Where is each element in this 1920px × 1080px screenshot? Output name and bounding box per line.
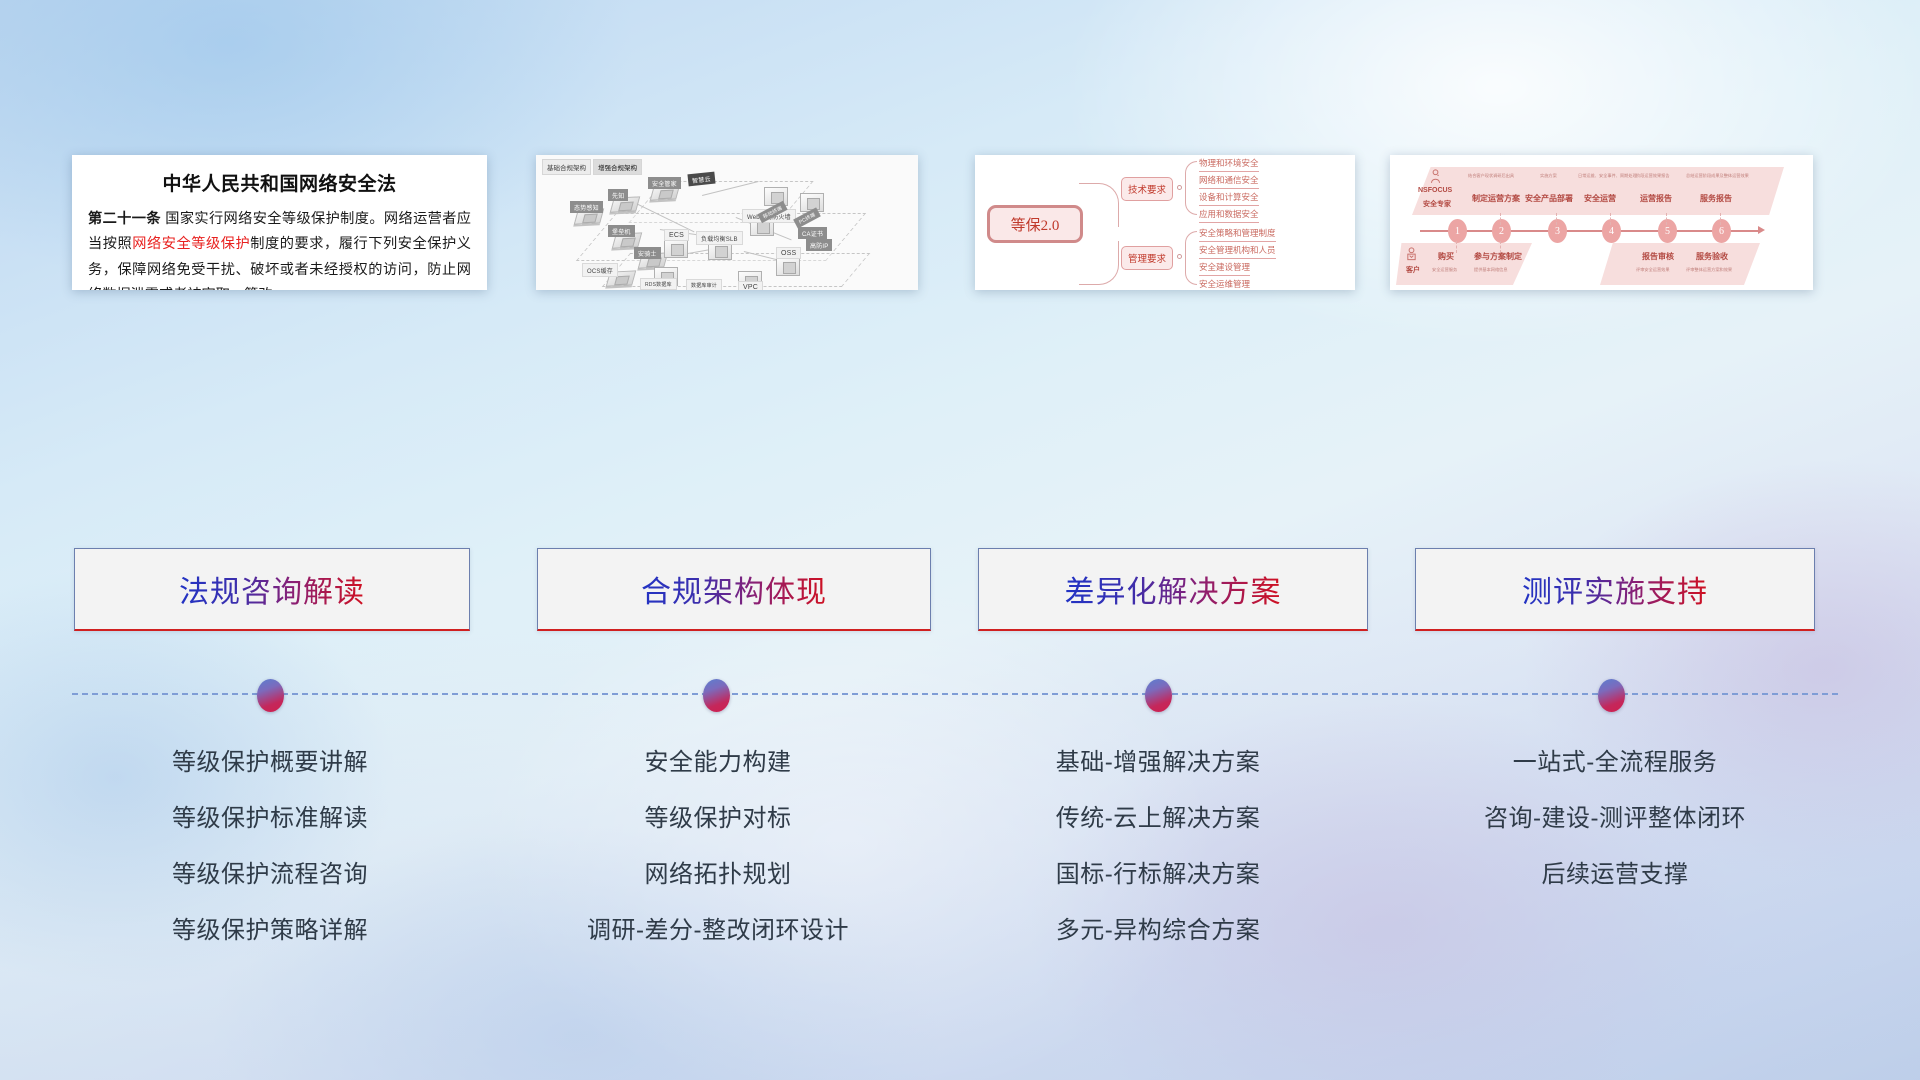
provider-person-icon [1430, 169, 1441, 184]
architecture-tab-basic[interactable]: 基础合规架构 [542, 159, 591, 175]
mindmap-dot-technical [1177, 185, 1182, 190]
list-item: 后续运营支撑 [1400, 852, 1830, 908]
feature-list-1: 等级保护概要讲解 等级保护标准解读 等级保护流程咨询 等级保护策略详解 [72, 740, 468, 964]
bottom-step-title-6: 服务验收 [1696, 251, 1728, 262]
feature-list-4: 一站式-全流程服务 咨询-建设-测评整体闭环 后续运营支撑 [1400, 740, 1830, 908]
node-label-baoleiji: 堡垒机 [608, 225, 635, 237]
provider-role-line-1: NSFOCUS [1418, 187, 1452, 194]
list-item: 基础-增强解决方案 [960, 740, 1356, 796]
timeline-connector-5 [1666, 213, 1667, 225]
node-label-rds: RDS数据库 [640, 278, 677, 290]
card-cloud-architecture[interactable]: 基础合规架构 增强合规架构 [536, 155, 918, 290]
mindmap-leaf-mgmt-1: 安全管理机构和人员 [1199, 244, 1276, 259]
mindmap-root: 等保2.0 [987, 205, 1083, 243]
top-step-sub-4: 总结运营阶段成果及整体运营效果 [1686, 173, 1749, 179]
mindmap-leaf-mgmt-3: 安全运维管理 [1199, 278, 1250, 290]
mindmap-link-management [1185, 231, 1197, 285]
mindmap-curve-upper [1079, 183, 1119, 227]
node-label-taishiganzhi: 态势感知 [570, 201, 603, 213]
bottom-step-sub-1: 安全运营服务 [1432, 267, 1457, 273]
top-step-title-3: 运营报告 [1640, 193, 1672, 204]
list-item: 网络拓扑规划 [520, 852, 916, 908]
top-step-title-4: 服务报告 [1700, 193, 1732, 204]
timeline-diagram: NSFOCUS 安全专家 结合客户现状调研后出具 制定运营方案 实施方案 安全产… [1390, 155, 1813, 290]
top-step-sub-0: 结合客户现状调研后出具 [1468, 173, 1514, 179]
headline-box-4[interactable]: 测评实施支持 [1415, 548, 1815, 631]
card-mindmap-dengbao[interactable]: 等保2.0 技术要求 物理和环境安全 网络和通信安全 设备和计算安全 应用和数据… [975, 155, 1355, 290]
node-label-xianzhi: 先知 [608, 189, 628, 201]
headline-text-2: 合规架构体现 [641, 567, 827, 611]
card-service-timeline[interactable]: NSFOCUS 安全专家 结合客户现状调研后出具 制定运营方案 实施方案 安全产… [1390, 155, 1813, 290]
headline-box-2[interactable]: 合规架构体现 [537, 548, 931, 631]
rail-bullet-4[interactable] [1598, 679, 1625, 712]
timeline-connector-6 [1720, 213, 1721, 225]
list-item: 安全能力构建 [520, 740, 916, 796]
top-step-sub-1: 实施方案 [1540, 173, 1557, 179]
node-label-oss: OSS [776, 247, 801, 259]
architecture-tab-group[interactable]: 基础合规架构 增强合规架构 [542, 159, 642, 175]
timeline-node-3[interactable]: 3 [1548, 219, 1567, 243]
architecture-diagram: 基础合规架构 增强合规架构 [536, 155, 918, 290]
top-step-sub-2: 日常运维、安全事件、周期处理 [1578, 173, 1637, 179]
mindmap-diagram: 等保2.0 技术要求 物理和环境安全 网络和通信安全 设备和计算安全 应用和数据… [975, 155, 1355, 290]
law-article-21-number: 第二十一条 [88, 211, 161, 227]
node-label-anqishi: 安骑士 [634, 247, 661, 259]
node-label-vpc: VPC [738, 281, 763, 290]
top-step-sub-3: 阶段运营效果报告 [1636, 173, 1670, 179]
rail-bullet-3[interactable] [1145, 679, 1172, 712]
list-item: 等级保护流程咨询 [72, 852, 468, 908]
top-step-title-0: 制定运营方案 [1472, 193, 1520, 204]
architecture-tab-enhanced[interactable]: 增强合规架构 [593, 159, 642, 175]
bottom-step-title-1: 购买 [1438, 251, 1454, 262]
list-item: 传统-云上解决方案 [960, 796, 1356, 852]
list-item: 咨询-建设-测评整体闭环 [1400, 796, 1830, 852]
mindmap-leaf-mgmt-0: 安全策略和管理制度 [1199, 227, 1276, 242]
top-step-title-1: 安全产品部署 [1525, 193, 1573, 204]
node-label-ocs: OCS缓存 [582, 263, 618, 277]
timeline-band-customer-right [1600, 243, 1760, 285]
mindmap-leaf-tech-1: 网络和通信安全 [1199, 174, 1259, 189]
bottom-step-sub-6: 评审整体运营方案和效果 [1686, 267, 1732, 273]
rail-bullet-2[interactable] [703, 679, 730, 712]
bottom-step-sub-5: 评审安全运营效果 [1636, 267, 1670, 273]
node-label-gaofang-ip: 高防IP [806, 239, 832, 251]
bottom-step-title-5: 报告审核 [1642, 251, 1674, 262]
list-item: 等级保护策略详解 [72, 908, 468, 964]
device-oss [776, 257, 800, 276]
mindmap-leaf-tech-3: 应用和数据安全 [1199, 208, 1259, 223]
timeline-connector-2 [1500, 213, 1501, 225]
provider-role-line-2: 安全专家 [1423, 199, 1451, 209]
law-article-21: 第二十一条 国家实行网络安全等级保护制度。网络运营者应当按照网络安全等级保护制度… [88, 207, 471, 290]
bottom-step-sub-2: 提供基本网络信息 [1474, 267, 1508, 273]
law-title: 中华人民共和国网络安全法 [88, 169, 471, 196]
timeline-axis [1420, 230, 1760, 232]
list-item: 国标-行标解决方案 [960, 852, 1356, 908]
list-item: 调研-差分-整改闭环设计 [520, 908, 916, 964]
list-item: 等级保护标准解读 [72, 796, 468, 852]
node-label-ecs: ECS [664, 229, 689, 241]
mindmap-dot-management [1177, 254, 1182, 259]
mindmap-branch-technical: 技术要求 [1121, 177, 1173, 201]
thumbnail-row: 中华人民共和国网络安全法 第二十一条 国家实行网络安全等级保护制度。网络运营者应… [0, 0, 1920, 460]
node-label-db-audit: 数据库审计 [686, 279, 722, 290]
timeline-node-4[interactable]: 4 [1602, 219, 1621, 243]
customer-role-label: 客户 [1406, 265, 1420, 275]
headline-box-1[interactable]: 法规咨询解读 [74, 548, 470, 631]
mindmap-leaf-mgmt-2: 安全建设管理 [1199, 261, 1250, 276]
timeline-connector-4 [1610, 213, 1611, 225]
list-item: 等级保护概要讲解 [72, 740, 468, 796]
timeline-node-1[interactable]: 1 [1448, 219, 1467, 243]
timeline-connector-3 [1556, 213, 1557, 225]
timeline-node-2[interactable]: 2 [1492, 219, 1511, 243]
timeline-connector-1 [1456, 241, 1457, 253]
mindmap-leaf-tech-2: 设备和计算安全 [1199, 191, 1259, 206]
rail-bullet-1[interactable] [257, 679, 284, 712]
node-label-anquanguanjia: 安全管家 [648, 177, 681, 189]
timeline-node-6[interactable]: 6 [1712, 219, 1731, 243]
headline-text-1: 法规咨询解读 [179, 567, 365, 611]
law-article-21-highlight: 网络安全等级保护 [132, 236, 250, 252]
list-item: 一站式-全流程服务 [1400, 740, 1830, 796]
node-label-slb: 负载均衡SLB [696, 231, 743, 245]
feature-list-3: 基础-增强解决方案 传统-云上解决方案 国标-行标解决方案 多元-异构综合方案 [960, 740, 1356, 964]
card-cybersecurity-law[interactable]: 中华人民共和国网络安全法 第二十一条 国家实行网络安全等级保护制度。网络运营者应… [72, 155, 487, 290]
node-label-ca: CA证书 [798, 227, 827, 239]
timeline-rail [72, 693, 1838, 695]
customer-person-icon [1406, 247, 1417, 262]
slide-stage: 中华人民共和国网络安全法 第二十一条 国家实行网络安全等级保护制度。网络运营者应… [0, 0, 1920, 1080]
bottom-step-title-2: 参与方案制定 [1474, 251, 1522, 262]
mindmap-branch-management: 管理要求 [1121, 246, 1173, 270]
list-item: 等级保护对标 [520, 796, 916, 852]
headline-text-4: 测评实施支持 [1522, 567, 1708, 611]
headline-box-3[interactable]: 差异化解决方案 [978, 548, 1368, 631]
timeline-node-5[interactable]: 5 [1658, 219, 1677, 243]
mindmap-curve-lower [1079, 241, 1119, 285]
mindmap-link-technical [1185, 161, 1197, 215]
device-ecs [664, 239, 688, 258]
timeline-arrow-icon [1758, 226, 1765, 234]
headline-text-3: 差异化解决方案 [1065, 567, 1282, 611]
feature-list-2: 安全能力构建 等级保护对标 网络拓扑规划 调研-差分-整改闭环设计 [520, 740, 916, 964]
list-item: 多元-异构综合方案 [960, 908, 1356, 964]
top-step-title-2: 安全运营 [1584, 193, 1616, 204]
mindmap-leaf-tech-0: 物理和环境安全 [1199, 157, 1259, 172]
